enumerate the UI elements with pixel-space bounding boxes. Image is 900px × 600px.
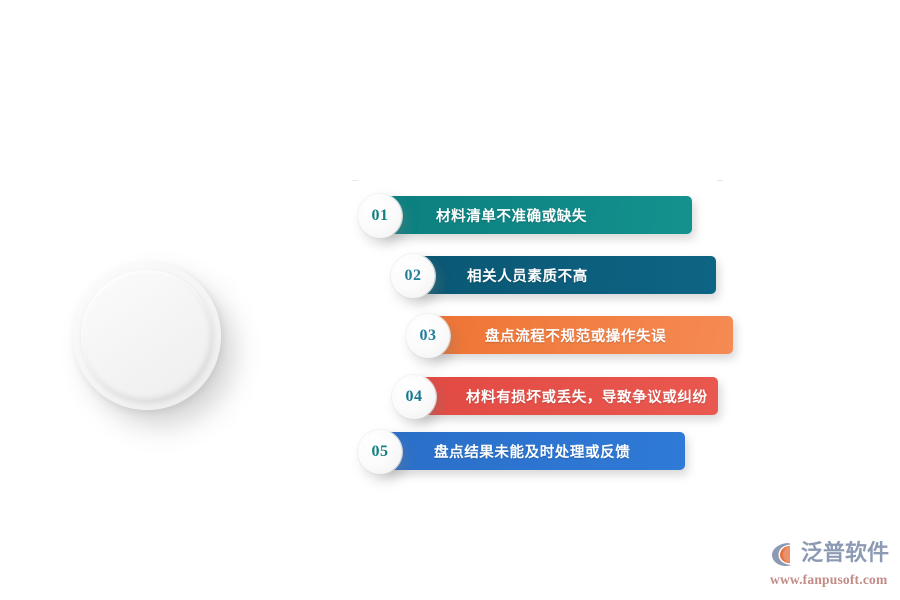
numbered-item-list: 材料清单不准确或缺失01相关人员素质不高02盘点流程不规范或操作失误03材料有损…	[0, 0, 900, 600]
item-number: 03	[420, 327, 437, 345]
item-bar[interactable]: 相关人员素质不高	[413, 256, 716, 294]
item-number-badge[interactable]: 05	[358, 430, 402, 474]
item-label: 盘点流程不规范或操作失误	[485, 325, 666, 346]
brand-logo-row: 泛普软件	[768, 538, 894, 570]
item-label: 材料有损坏或丢失，导致争议或纠纷	[466, 386, 708, 407]
item-bar[interactable]: 材料清单不准确或缺失	[380, 196, 692, 234]
item-number-badge[interactable]: 04	[392, 375, 436, 419]
item-label: 材料清单不准确或缺失	[436, 205, 587, 226]
item-number-badge[interactable]: 02	[391, 254, 435, 298]
item-number: 04	[406, 388, 423, 406]
item-number-badge[interactable]: 01	[358, 194, 402, 238]
brand-logo: 泛普软件 www.fanpusoft.com	[768, 538, 894, 590]
diagram-canvas: 材料清单不准确或缺失01相关人员素质不高02盘点流程不规范或操作失误03材料有损…	[0, 0, 900, 600]
fanpu-logo-mark-icon	[768, 539, 798, 569]
item-bar[interactable]: 盘点结果未能及时处理或反馈	[380, 432, 685, 470]
item-bar[interactable]: 材料有损坏或丢失，导致争议或纠纷	[414, 377, 718, 415]
item-number: 02	[405, 267, 422, 285]
item-number: 01	[372, 207, 389, 225]
item-label: 相关人员素质不高	[467, 265, 588, 286]
item-number: 05	[372, 443, 389, 461]
brand-name: 泛普软件	[801, 543, 889, 565]
item-bar[interactable]: 盘点流程不规范或操作失误	[428, 316, 733, 354]
item-label: 盘点结果未能及时处理或反馈	[434, 441, 630, 462]
item-number-badge[interactable]: 03	[406, 314, 450, 358]
brand-url: www.fanpusoft.com	[770, 572, 894, 588]
